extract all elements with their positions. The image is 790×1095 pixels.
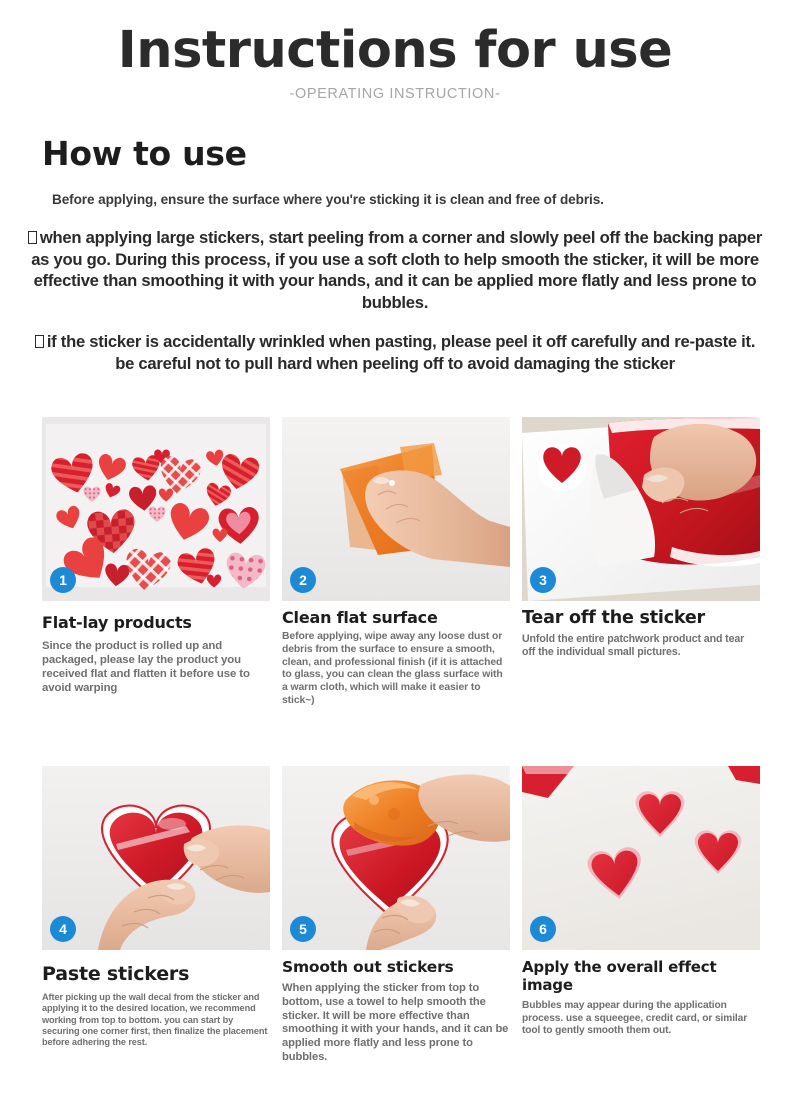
step-badge-4: 4 [50,916,76,942]
step-image-4: 4 [42,766,270,950]
bullet-glyph-icon [28,231,37,244]
step-body-4: After picking up the wall decal from the… [42,992,270,1049]
step-image-1: 1 [42,417,270,601]
step-title-4: Paste stickers [42,963,270,985]
page-title: Instructions for use [0,22,790,79]
step-body-3: Unfold the entire patchwork product and … [522,633,760,659]
bullet-glyph-icon [35,335,44,348]
step-badge-2: 2 [290,567,316,593]
hand-wiping-with-cloth-illustration [282,417,510,601]
step-body-1: Since the product is rolled up and packa… [42,639,270,695]
page-subtitle: -OPERATING INSTRUCTION- [0,86,790,102]
step-title-6: Apply the overall effect image [522,958,760,994]
step-title-3: Tear off the sticker [522,608,760,628]
step-card-4: 4 Paste stickers After picking up the wa… [42,766,270,1065]
instruction-paragraph-1-text: when applying large stickers, start peel… [31,228,762,312]
applied-hearts-effect-illustration [522,766,760,950]
step-badge-5: 5 [290,916,316,942]
step-title-2: Clean flat surface [282,608,510,627]
step-badge-1: 1 [50,567,76,593]
peeling-backing-paper-illustration [522,417,760,601]
step-body-5: When applying the sticker from top to bo… [282,982,510,1065]
steps-row-2: 4 Paste stickers After picking up the wa… [42,766,760,1065]
how-to-use-heading: How to use [42,134,790,173]
step-image-6: 6 [522,766,760,950]
how-to-use-intro: Before applying, ensure the surface wher… [52,192,790,207]
step-card-1: 1 Flat-lay products Since the product is… [42,417,270,708]
step-card-6: 6 Apply the overall effect image Bubbles… [522,766,760,1065]
step-card-2: 2 Clean flat surface Before applying, wi… [282,417,510,708]
step-image-2: 2 [282,417,510,601]
step-badge-3: 3 [530,567,556,593]
step-image-3: 3 [522,417,760,601]
page-header: Instructions for use -OPERATING INSTRUCT… [0,0,790,102]
step-body-6: Bubbles may appear during the applicatio… [522,1000,760,1038]
heart-sticker-sheet-illustration [42,417,270,601]
instruction-paragraph-2-text: if the sticker is accidentally wrinkled … [47,332,755,373]
step-badge-6: 6 [530,916,556,942]
instruction-sheet: Instructions for use -OPERATING INSTRUCT… [0,0,790,1095]
instruction-paragraph-1: when applying large stickers, start peel… [24,227,766,313]
smoothing-sticker-with-towel-illustration [282,766,510,950]
steps-row-1: 1 Flat-lay products Since the product is… [42,417,760,708]
step-title-1: Flat-lay products [42,613,270,632]
pasting-heart-sticker-illustration [42,766,270,950]
how-to-use-section: How to use Before applying, ensure the s… [42,134,790,207]
step-title-5: Smooth out stickers [282,958,510,976]
step-card-3: 3 Tear off the sticker Unfold the entire… [522,417,760,708]
step-card-5: 5 Smooth out stickers When applying the … [282,766,510,1065]
step-image-5: 5 [282,766,510,950]
instruction-paragraph-2: if the sticker is accidentally wrinkled … [24,331,766,374]
step-body-2: Before applying, wipe away any loose dus… [282,631,510,708]
